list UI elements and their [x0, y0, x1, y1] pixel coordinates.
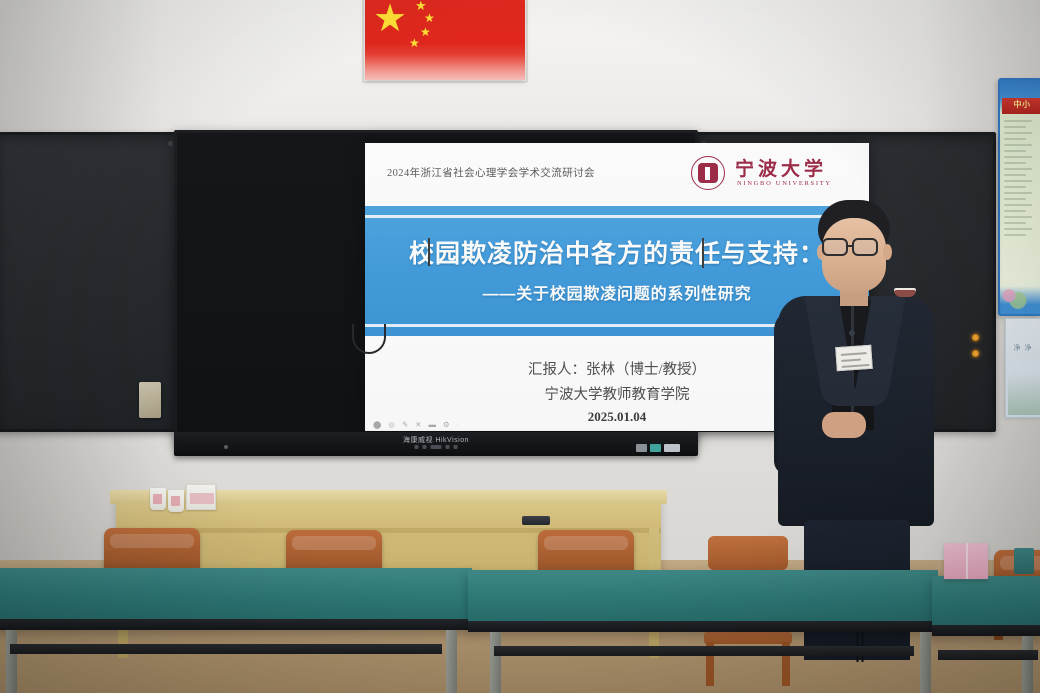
circle-icon[interactable]: ◎: [388, 421, 395, 429]
student-table[interactable]: [932, 576, 1040, 636]
logo-english-name: NINGBO UNIVERSITY: [737, 180, 832, 187]
national-flag: ★ ★ ★ ★ ★: [365, 0, 525, 80]
table-leg: [1022, 636, 1033, 693]
wall-poster-rules: 中小: [998, 78, 1040, 316]
paper-cup[interactable]: [168, 490, 184, 512]
table-leg: [490, 632, 501, 693]
slide-header: 2024年浙江省社会心理学会学术交流研讨会 宁波大学 NINGBO UNIVER…: [365, 143, 869, 206]
flag-star-large: ★: [373, 0, 407, 38]
standby-led-icon: [972, 350, 979, 357]
remote-control[interactable]: [522, 516, 550, 525]
mount-wire-right: [702, 238, 704, 268]
mount-wire-left: [428, 238, 430, 266]
table-shelf: [494, 646, 914, 656]
panel-screw: [168, 141, 173, 146]
poster-grass-art: [1008, 373, 1040, 415]
pointer-icon[interactable]: ⬤: [373, 421, 381, 429]
flag-star-3: ★: [420, 26, 431, 38]
table-shelf: [10, 644, 442, 654]
poster-title-banner: 中小: [1002, 98, 1040, 114]
name-badge: [835, 345, 873, 371]
power-led-icon: [972, 334, 979, 341]
blackboard-eraser[interactable]: [139, 382, 161, 418]
display-ports: [636, 444, 680, 452]
flag-field: ★ ★ ★ ★ ★: [365, 0, 525, 80]
glasses-icon: [822, 238, 848, 256]
display-brand-label: 海康威视 HikVision: [403, 435, 469, 445]
gear-icon[interactable]: ⚙: [443, 421, 450, 429]
table-shelf: [938, 650, 1038, 660]
presenter-ear-right: [883, 244, 892, 260]
slide-annotation-toolbar[interactable]: ⬤ ◎ ✎ ✕ ▬ ⚙ ·: [373, 421, 459, 429]
flag-star-2: ★: [424, 12, 435, 24]
photo-scene: ★ ★ ★ ★ ★ 中小 净 净: [0, 0, 1040, 693]
glasses-bridge: [848, 245, 854, 247]
close-icon[interactable]: ✕: [415, 421, 421, 429]
poster-title-text: 中小: [1002, 99, 1040, 110]
pen-icon[interactable]: ✎: [402, 421, 408, 429]
interactive-display[interactable]: 2024年浙江省社会心理学会学术交流研讨会 宁波大学 NINGBO UNIVER…: [174, 130, 698, 442]
green-cup[interactable]: [1014, 548, 1034, 574]
tissue-box[interactable]: [186, 484, 216, 510]
flag-star-4: ★: [409, 37, 420, 49]
logo-seal-icon: [691, 156, 725, 190]
poster-secondary-text: 净 净: [1006, 343, 1040, 353]
student-table[interactable]: [0, 568, 472, 630]
rectangle-icon[interactable]: ▬: [429, 421, 437, 429]
table-leg: [920, 632, 931, 693]
logo-chinese-name: 宁波大学: [735, 154, 827, 181]
poster-flower-decoration: [1000, 262, 1030, 310]
blackboard-panel-left: [0, 132, 184, 432]
display-bottom-bezel: 海康威视 HikVision: [174, 432, 698, 456]
glasses-lens-right: [852, 238, 878, 256]
university-logo: 宁波大学 NINGBO UNIVERSITY: [691, 153, 853, 197]
display-sensor: [224, 445, 228, 449]
student-table[interactable]: [468, 570, 938, 632]
presenter: [770, 200, 950, 600]
poster-text-lines: [1004, 120, 1036, 240]
paper-cup[interactable]: [150, 488, 166, 510]
table-leg: [6, 630, 17, 693]
presenter-mouth: [894, 288, 916, 297]
table-leg: [446, 630, 457, 693]
presenter-hands: [822, 412, 866, 438]
wall-poster-secondary: 净 净: [1005, 318, 1040, 418]
tent-name-card[interactable]: [944, 543, 988, 579]
display-control-keys[interactable]: [415, 445, 458, 449]
more-icon[interactable]: ·: [457, 421, 460, 429]
slide-kicker-text: 2024年浙江省社会心理学会学术交流研讨会: [387, 165, 595, 180]
